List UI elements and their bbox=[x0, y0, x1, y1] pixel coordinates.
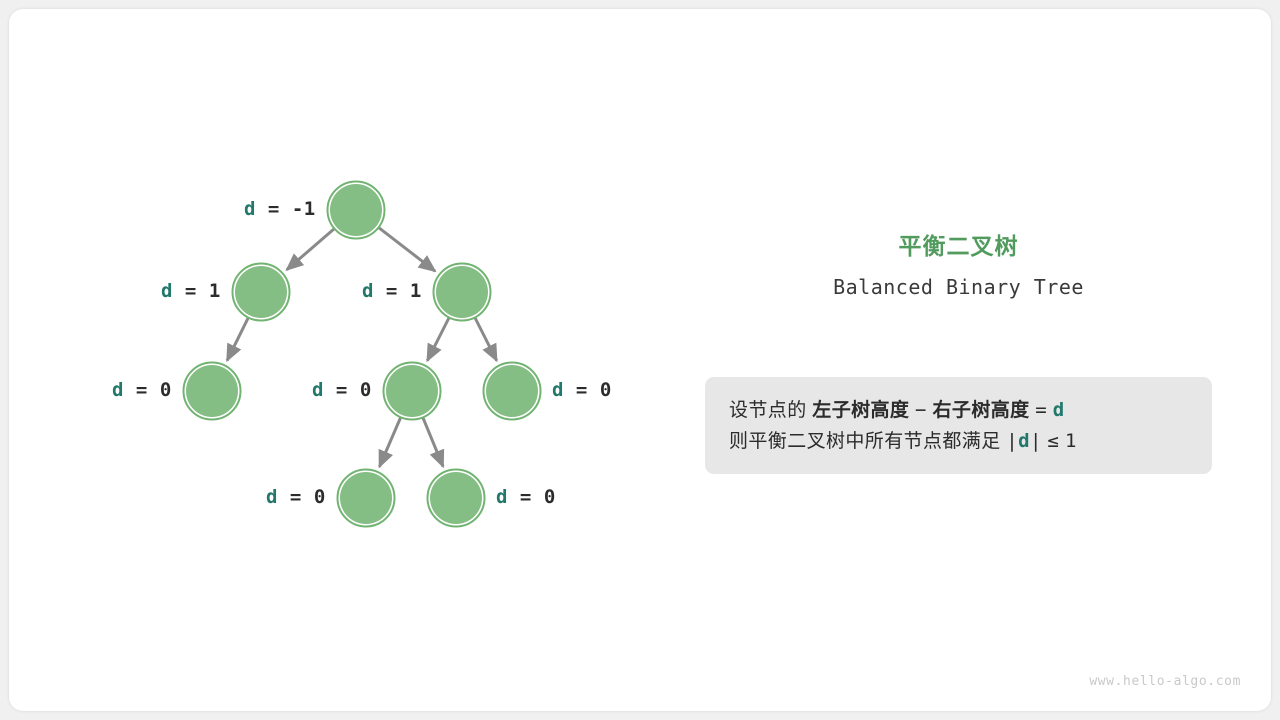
definition-box: 设节点的 左子树高度 − 右子树高度 = d 则平衡二叉树中所有节点都满足 |d… bbox=[705, 377, 1212, 474]
definition-left-height: 左子树高度 bbox=[812, 400, 909, 421]
tree-edge bbox=[427, 317, 449, 361]
tree-node-n6 bbox=[340, 472, 392, 524]
label-value: 1 bbox=[410, 280, 422, 302]
tree-edge bbox=[423, 417, 443, 467]
label-variable: d bbox=[552, 379, 564, 401]
tree-edge bbox=[379, 417, 401, 467]
tree-node-n2 bbox=[436, 266, 488, 318]
label-variable: d bbox=[266, 486, 278, 508]
node-balance-label-n4: d = 0 bbox=[312, 379, 372, 401]
label-variable: d bbox=[161, 280, 173, 302]
label-value: 0 bbox=[160, 379, 172, 401]
tree-node-n3 bbox=[186, 365, 238, 417]
label-operator: = bbox=[520, 486, 532, 508]
node-balance-label-n2: d = 1 bbox=[362, 280, 422, 302]
label-variable: d bbox=[496, 486, 508, 508]
label-value: 0 bbox=[600, 379, 612, 401]
abs-bar-close: | bbox=[1030, 430, 1042, 452]
label-operator: = bbox=[290, 486, 302, 508]
definition-line-2: 则平衡二叉树中所有节点都满足 |d| ≤ 1 bbox=[729, 426, 1188, 457]
panel-heading-group: 平衡二叉树 Balanced Binary Tree bbox=[705, 227, 1212, 299]
tree-edge bbox=[378, 227, 435, 271]
label-operator: = bbox=[185, 280, 197, 302]
tree-node-n4 bbox=[386, 365, 438, 417]
label-operator: = bbox=[336, 379, 348, 401]
node-balance-label-n6: d = 0 bbox=[266, 486, 326, 508]
label-variable: d bbox=[244, 198, 256, 220]
definition-line-1: 设节点的 左子树高度 − 右子树高度 = d bbox=[729, 395, 1188, 426]
definition-condition-text: 则平衡二叉树中所有节点都满足 bbox=[729, 431, 1001, 452]
label-variable: d bbox=[362, 280, 374, 302]
panel-subtitle: Balanced Binary Tree bbox=[705, 275, 1212, 299]
watermark: www.hello-algo.com bbox=[1089, 674, 1241, 689]
diagram-card: d = -1d = 1d = 1d = 0d = 0d = 0d = 0d = … bbox=[9, 9, 1271, 711]
bound-value-one: 1 bbox=[1065, 430, 1077, 452]
label-value: -1 bbox=[292, 198, 316, 220]
label-operator: = bbox=[268, 198, 280, 220]
label-variable: d bbox=[112, 379, 124, 401]
tree-node-n7 bbox=[430, 472, 482, 524]
tree-node-n5 bbox=[486, 365, 538, 417]
definition-minus-sign: − bbox=[915, 399, 927, 421]
node-balance-label-n5: d = 0 bbox=[552, 379, 612, 401]
node-balance-label-n3: d = 0 bbox=[112, 379, 172, 401]
label-operator: = bbox=[386, 280, 398, 302]
panel-title: 平衡二叉树 bbox=[705, 227, 1212, 261]
definition-right-height: 右子树高度 bbox=[933, 400, 1030, 421]
tree-edge bbox=[227, 317, 248, 360]
label-operator: = bbox=[136, 379, 148, 401]
label-value: 0 bbox=[360, 379, 372, 401]
tree-nodes bbox=[184, 182, 541, 527]
tree-edge bbox=[475, 317, 497, 361]
tree-node-n0 bbox=[330, 184, 382, 236]
binary-tree-graphic bbox=[9, 9, 709, 629]
definition-text-prefix: 设节点的 bbox=[729, 400, 807, 421]
definition-variable-d: d bbox=[1053, 399, 1065, 421]
tree-node-n1 bbox=[235, 266, 287, 318]
label-value: 1 bbox=[209, 280, 221, 302]
node-balance-label-n1: d = 1 bbox=[161, 280, 221, 302]
label-value: 0 bbox=[544, 486, 556, 508]
node-balance-label-n7: d = 0 bbox=[496, 486, 556, 508]
definition-equals-sign: = bbox=[1035, 399, 1047, 421]
less-equal-sign: ≤ bbox=[1048, 430, 1060, 452]
label-value: 0 bbox=[314, 486, 326, 508]
label-operator: = bbox=[576, 379, 588, 401]
abs-bar-open: | bbox=[1006, 430, 1018, 452]
label-variable: d bbox=[312, 379, 324, 401]
node-balance-label-n0: d = -1 bbox=[244, 198, 316, 220]
tree-edge bbox=[287, 228, 335, 269]
abs-variable-d: d bbox=[1018, 430, 1030, 452]
